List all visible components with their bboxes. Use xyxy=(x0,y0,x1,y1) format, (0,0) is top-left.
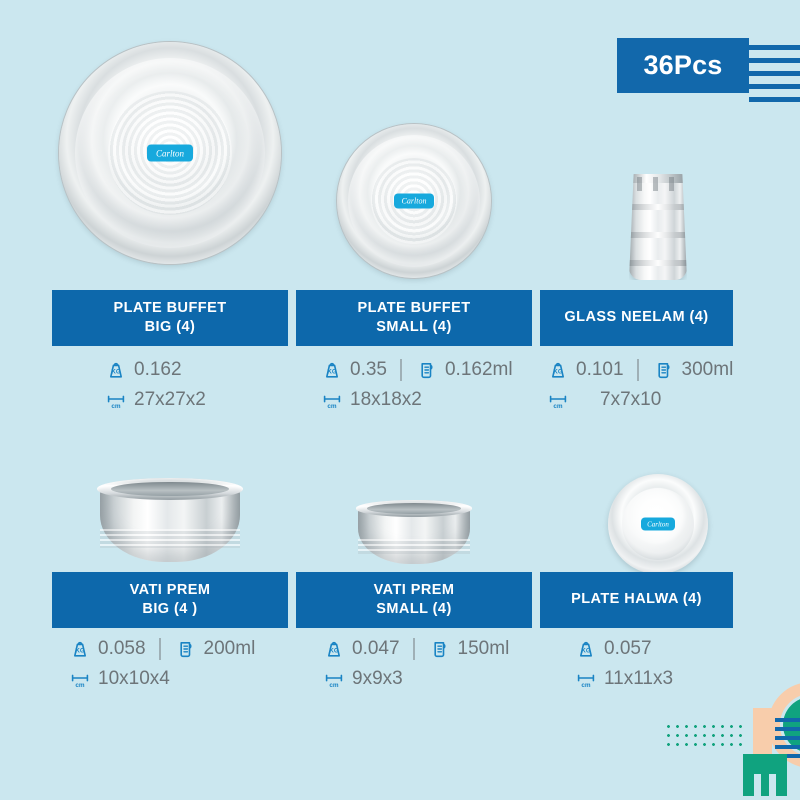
product-name-line2-4: SMALL (4) xyxy=(374,600,455,619)
product-name-line1-0: PLATE BUFFET xyxy=(113,299,226,318)
spec-weight-row-5: KG 0.057 xyxy=(574,634,673,664)
spec-dimension-value-0: 27x27x2 xyxy=(134,389,206,411)
svg-text:cm: cm xyxy=(327,403,337,410)
ruler-cm-icon: cm xyxy=(546,388,570,412)
beaker-ml-icon xyxy=(652,358,676,382)
spec-divider xyxy=(413,638,415,660)
dot-grid-shape xyxy=(664,722,742,750)
ruler-cm-icon: cm xyxy=(322,667,346,691)
glass-notch xyxy=(653,177,658,191)
spec-weight-value-1: 0.35 xyxy=(350,359,387,381)
spec-dimension-value-1: 18x18x2 xyxy=(350,389,422,411)
product-name-line2-0: BIG (4) xyxy=(113,318,226,337)
svg-text:KG: KG xyxy=(75,647,84,654)
spec-divider xyxy=(159,638,161,660)
product-name-line2-1: SMALL (4) xyxy=(357,318,470,337)
product-specs-1: KG 0.35 0.162ml cm 18x18x2 xyxy=(320,355,513,415)
ruler-cm-icon: cm xyxy=(320,388,344,412)
product-specs-4: KG 0.047 150ml cm 9x9x3 xyxy=(322,634,509,694)
ruler-cm-icon: cm xyxy=(104,388,128,412)
spec-weight-row-2: KG 0.101 300ml xyxy=(546,355,733,385)
svg-text:KG: KG xyxy=(329,647,338,654)
product-image-4 xyxy=(296,460,532,580)
svg-text:cm: cm xyxy=(329,682,339,689)
product-banner-2: GLASS NEELAM (4) xyxy=(540,290,733,346)
glass-notch xyxy=(637,177,642,191)
spec-dimension-row-3: cm 10x10x4 xyxy=(68,664,255,694)
product-banner-3: VATI PREM BIG (4 ) xyxy=(52,572,288,628)
product-banner-0: PLATE BUFFET BIG (4) xyxy=(52,290,288,346)
spec-weight-value-2: 0.101 xyxy=(576,359,624,381)
spec-volume-value-4: 150ml xyxy=(458,638,510,660)
corner-decoration xyxy=(650,690,800,800)
product-name-line1-2: GLASS NEELAM (4) xyxy=(564,308,708,327)
plate-buffet-small-art: Carlton xyxy=(337,124,491,278)
spec-divider xyxy=(400,359,402,381)
plate-buffet-big-art: Carlton xyxy=(59,42,281,264)
spec-dimension-row-4: cm 9x9x3 xyxy=(322,664,509,694)
teal-comb-shape xyxy=(743,754,787,796)
svg-text:KG: KG xyxy=(327,368,336,375)
product-specs-0: KG 0.162 cm 27x27x2 xyxy=(104,355,206,415)
svg-text:cm: cm xyxy=(553,403,563,410)
svg-text:cm: cm xyxy=(75,682,85,689)
vati-prem-big-art xyxy=(100,478,240,562)
weight-kg-icon: KG xyxy=(104,358,128,382)
product-name-line2-3: BIG (4 ) xyxy=(130,600,211,619)
product-specs-5: KG 0.057 cm 11x11x3 xyxy=(574,634,673,694)
spec-dimension-row-0: cm 27x27x2 xyxy=(104,385,206,415)
product-specs-2: KG 0.101 300ml cm 7x7x10 xyxy=(546,355,733,415)
spec-weight-row-0: KG 0.162 xyxy=(104,355,206,385)
product-image-5: Carlton xyxy=(540,460,776,580)
weight-kg-icon: KG xyxy=(574,637,598,661)
glass-band xyxy=(629,232,687,238)
plate-halwa-art: Carlton xyxy=(608,474,708,574)
product-specs-3: KG 0.058 200ml cm 10x10x4 xyxy=(68,634,255,694)
svg-text:KG: KG xyxy=(111,368,120,375)
spec-dimension-row-1: cm 18x18x2 xyxy=(320,385,513,415)
svg-text:KG: KG xyxy=(581,647,590,654)
weight-kg-icon: KG xyxy=(322,637,346,661)
ruler-cm-icon: cm xyxy=(68,667,92,691)
spec-dimension-value-5: 11x11x3 xyxy=(604,668,673,690)
glass-notch xyxy=(669,177,674,191)
spec-weight-row-4: KG 0.047 150ml xyxy=(322,634,509,664)
spec-dimension-value-2: 7x7x10 xyxy=(600,389,661,411)
spec-divider xyxy=(637,359,639,381)
spec-weight-row-3: KG 0.058 200ml xyxy=(68,634,255,664)
weight-kg-icon: KG xyxy=(320,358,344,382)
spec-volume-value-1: 0.162ml xyxy=(445,359,513,381)
product-image-2 xyxy=(540,28,776,290)
spec-volume-value-2: 300ml xyxy=(682,359,734,381)
product-name-line1-1: PLATE BUFFET xyxy=(357,299,470,318)
product-name-line1-4: VATI PREM xyxy=(374,581,455,600)
product-name-line1-3: VATI PREM xyxy=(130,581,211,600)
spec-weight-value-3: 0.058 xyxy=(98,638,146,660)
glass-band xyxy=(629,204,687,210)
beaker-ml-icon xyxy=(174,637,198,661)
product-name-line1-5: PLATE HALWA (4) xyxy=(571,590,702,609)
product-image-0: Carlton xyxy=(52,28,288,290)
glass-neelam-art xyxy=(629,174,687,280)
brand-sticker: Carlton xyxy=(394,194,434,209)
svg-text:KG: KG xyxy=(553,368,562,375)
beaker-ml-icon xyxy=(428,637,452,661)
svg-text:cm: cm xyxy=(111,403,121,410)
bowl-interior xyxy=(367,503,461,514)
spec-weight-value-4: 0.047 xyxy=(352,638,400,660)
svg-text:cm: cm xyxy=(581,682,591,689)
product-banner-4: VATI PREM SMALL (4) xyxy=(296,572,532,628)
product-sheet: 36Pcs Carlton PLATE BUFFET BIG (4) KG 0.… xyxy=(0,0,800,800)
spec-dimension-row-2: cm 7x7x10 xyxy=(546,385,733,415)
glass-band xyxy=(629,260,687,266)
spec-volume-value-3: 200ml xyxy=(204,638,256,660)
spec-dimension-value-3: 10x10x4 xyxy=(98,668,170,690)
weight-kg-icon: KG xyxy=(68,637,92,661)
vati-prem-small-art xyxy=(358,500,470,564)
spec-weight-value-5: 0.057 xyxy=(604,638,652,660)
product-banner-5: PLATE HALWA (4) xyxy=(540,572,733,628)
brand-sticker: Carlton xyxy=(147,145,193,162)
product-image-1: Carlton xyxy=(296,28,532,290)
spec-weight-row-1: KG 0.35 0.162ml xyxy=(320,355,513,385)
product-banner-1: PLATE BUFFET SMALL (4) xyxy=(296,290,532,346)
beaker-ml-icon xyxy=(415,358,439,382)
brand-sticker: Carlton xyxy=(641,518,675,531)
spec-weight-value-0: 0.162 xyxy=(134,359,182,381)
product-image-3 xyxy=(52,460,288,580)
ruler-cm-icon: cm xyxy=(574,667,598,691)
spec-dimension-value-4: 9x9x3 xyxy=(352,668,403,690)
weight-kg-icon: KG xyxy=(546,358,570,382)
